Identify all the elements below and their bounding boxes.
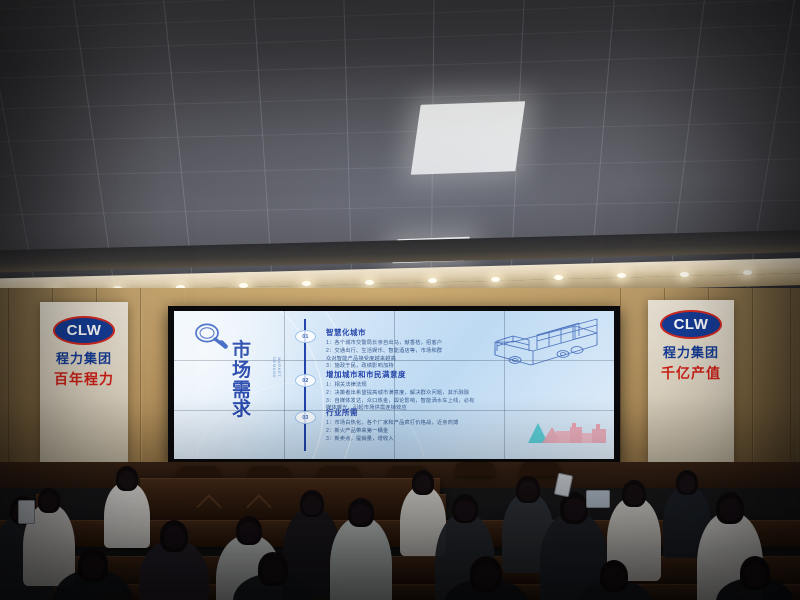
company-name-right: 程力集团 [663,342,719,361]
tile-seam-v [504,311,505,459]
slide-vertical-subtitle: MARKET DEMAND [272,357,282,397]
section-03-line-1: 1：市场白热化，各个厂家和产品疯打价格战，近身肉搏 [326,420,458,428]
person-head [351,504,371,525]
slide-section-01: 智慧化城市 1：各个城市交警局长亲自出马，献香桔，招客户 2：交通出行、生活娱乐… [326,327,442,371]
person-head [262,559,285,583]
company-name-left: 程力集团 [56,348,112,367]
person-head [41,493,58,511]
clw-wordmark-left: CLW [67,323,102,338]
clw-logo-mark-right: CLW [660,310,722,339]
person-body [330,517,392,600]
left-logo-block: CLW 程力集团 百年程力 [40,316,128,389]
section-01-heading: 智慧化城市 [326,327,442,338]
title-char-1: 市 [232,341,251,361]
person-head [474,563,498,589]
person-head [119,471,136,489]
person-head [625,485,643,504]
section-02-heading: 增加城市和市民满意度 [326,369,475,380]
timeline-node-01: 01 [295,330,316,343]
left-logo-pillar: CLW 程力集团 百年程力 [40,302,128,462]
conference-hall-photo: CLW 程力集团 百年程力 CLW 程力集团 千亿产值 [0,0,800,600]
section-01-line-2: 2：交通出行、生活娱乐、智能酒店等，市场和群 [326,348,442,356]
slogan-right: 千亿产值 [661,363,721,383]
person-head [415,475,432,493]
chair-back [520,462,560,476]
section-02-line-1: 1：相关法律法规 [326,382,475,390]
person-head [303,495,321,514]
person-head [720,498,741,520]
person-head [455,500,475,521]
timeline-node-02: 02 [295,374,316,387]
title-char-2: 场 [232,361,251,381]
slide-vertical-title: 市 场 需 求 [232,341,251,420]
slide-section-03: 行业所需 1：市场白热化，各个厂家和产品疯打价格战，近身肉搏 2：新火产品带来第… [326,407,458,443]
section-03-line-3: 3：新卖点，提销量，增收入 [326,436,458,444]
person-head [519,481,537,500]
front-podium-bench [140,478,440,521]
person-body [104,482,150,548]
blueprint-truck-illustration [479,315,607,380]
phone-held-left [18,500,35,524]
timeline-node-03: 03 [295,411,316,424]
person-head [564,498,585,520]
person-head [604,566,625,588]
clw-logo-mark-left: CLW [53,316,115,345]
downlight [491,277,500,282]
person-head [164,526,185,548]
clw-wordmark-right: CLW [674,317,709,332]
person-head [679,475,696,493]
pink-cyan-decoration [526,417,610,454]
title-char-3: 需 [232,381,251,401]
person-head [82,555,105,579]
timeline-node-03-label: 03 [302,415,308,421]
section-03-line-2: 2：新火产品带来第一桶金 [326,428,458,436]
tile-seam-v [284,311,285,459]
right-logo-block: CLW 程力集团 千亿产值 [648,310,734,383]
section-02-line-2: 2：决策者出希望提高城市满意度，解决群众问题，其乐融融 [326,390,475,398]
person-head [744,563,767,587]
slogan-left: 百年程力 [54,369,114,389]
timeline-node-02-label: 02 [302,378,308,384]
timeline-node-01-label: 01 [302,334,308,340]
tile-seam-v [394,311,395,459]
tablet-screen [586,490,610,508]
section-01-line-1: 1：各个城市交警局长亲自出马，献香桔，招客户 [326,340,442,348]
presentation-screen[interactable]: 市 场 需 求 MARKET DEMAND 01 02 03 智慧化城市 1：各… [174,311,614,459]
chair-back [455,462,495,476]
right-logo-pillar: CLW 程力集团 千亿产值 [648,300,734,465]
downlight [680,272,689,277]
person-head [239,522,259,543]
section-03-heading: 行业所需 [326,407,458,418]
downlight [365,280,374,285]
search-icon [194,321,228,356]
